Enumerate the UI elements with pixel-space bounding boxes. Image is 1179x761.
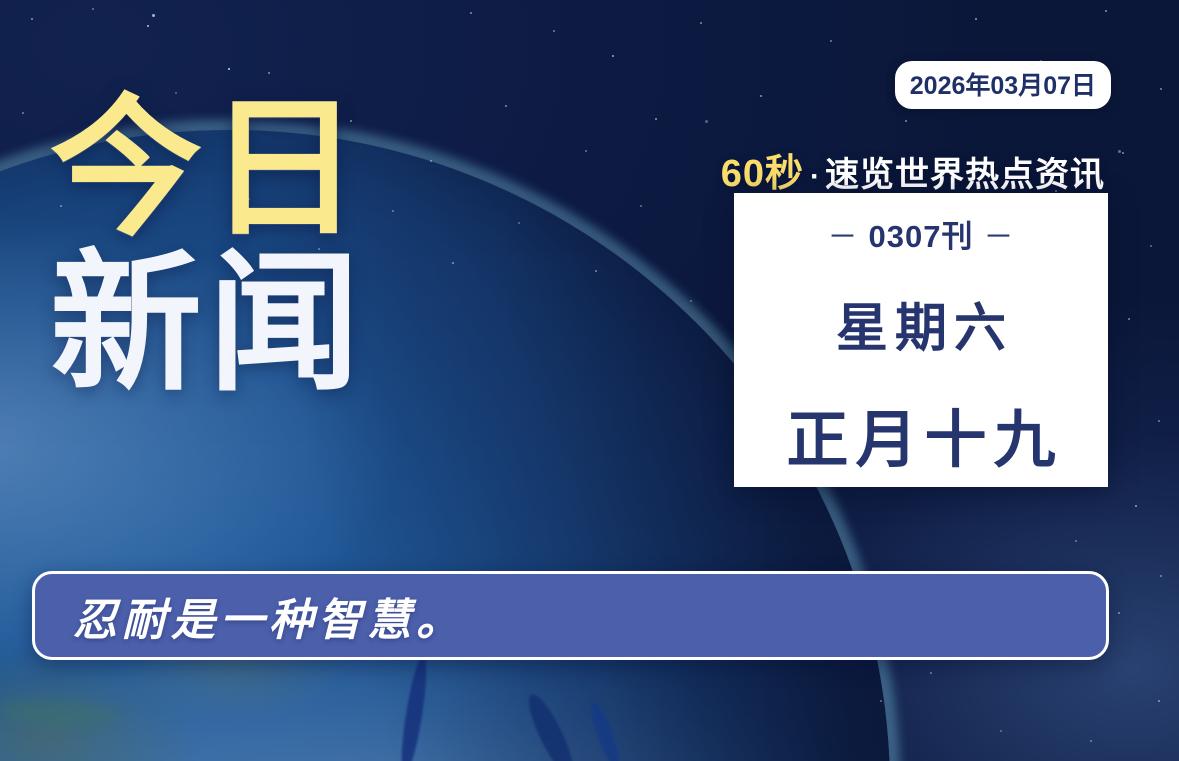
lunar-date-label: 正月十九 [779, 389, 1062, 479]
issue-number: 0307刊 [869, 211, 974, 256]
tagline-text: 速览世界热点资讯 [825, 156, 1105, 194]
tagline: 60秒·速览世界热点资讯 [721, 142, 1105, 197]
issue-dash-right: － [983, 212, 1014, 256]
issue-dash-left: － [828, 212, 859, 256]
tagline-seconds: 60秒 [721, 153, 804, 195]
brand-title-line-2: 新闻 [50, 251, 366, 398]
weekday-label: 星期六 [829, 286, 1013, 361]
brand-title-line-1: 今日 [50, 96, 366, 243]
news-poster: 今日 新闻 2026年03月07日 60秒·速览世界热点资讯 － 0307刊 －… [0, 0, 1179, 761]
quote-bar: 忍耐是一种智慧。 [32, 571, 1109, 660]
tagline-separator: · [810, 160, 821, 193]
info-card: － 0307刊 － 星期六 正月十九 [734, 193, 1108, 487]
quote-text: 忍耐是一种智慧。 [73, 584, 465, 648]
brand-title: 今日 新闻 [50, 96, 366, 399]
starfield-bright [0, 0, 3, 3]
issue-number-row: － 0307刊 － [828, 211, 1015, 256]
date-badge: 2026年03月07日 [895, 61, 1111, 109]
